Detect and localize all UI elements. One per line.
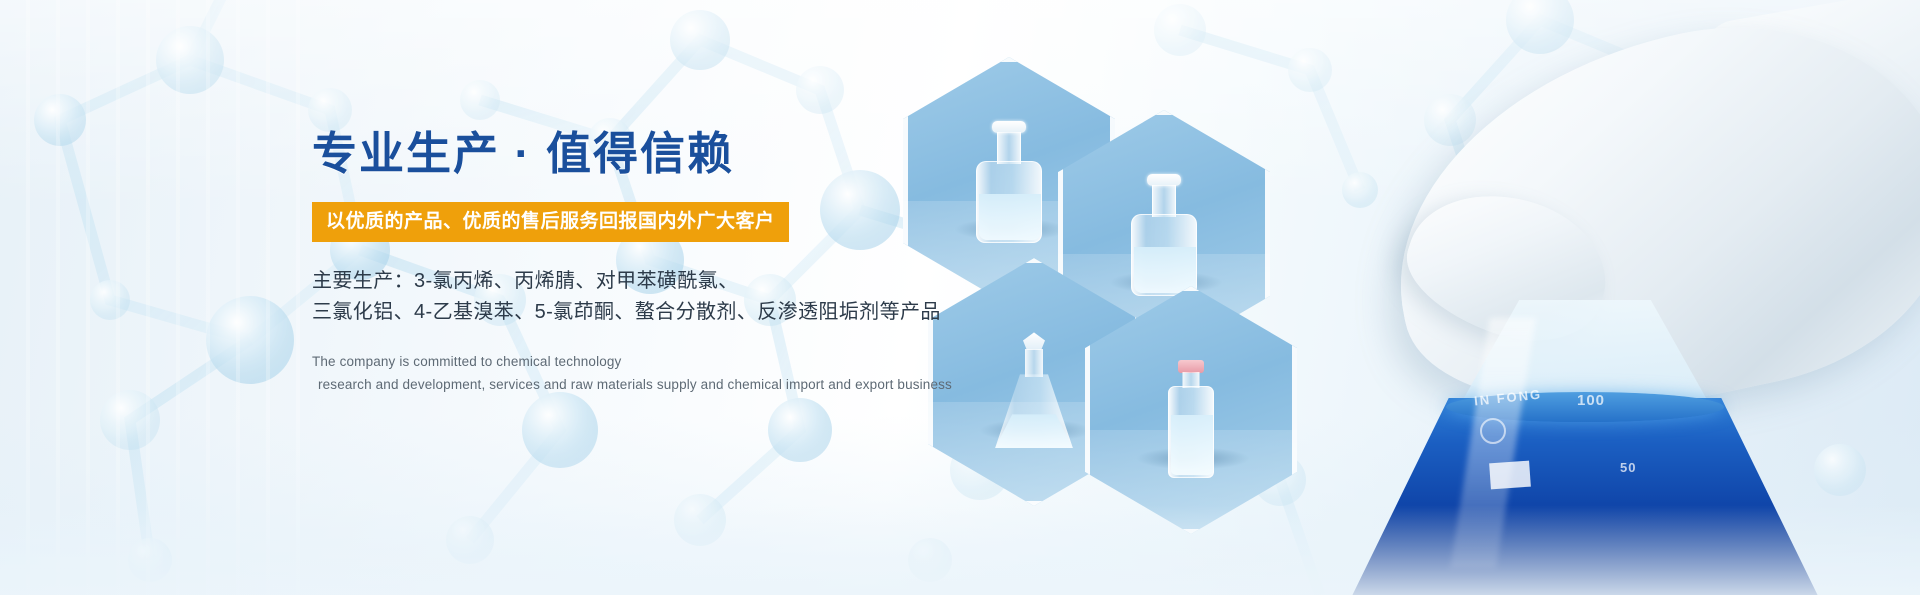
english-line-1: The company is committed to chemical tec…	[312, 350, 1012, 374]
banner-headline: 专业生产 · 值得信赖	[312, 128, 1012, 180]
hero-banner: IN FONG 100 50	[0, 0, 1920, 595]
product-line-1: 主要生产：3-氯丙烯、丙烯腈、对甲苯磺酰氯、	[312, 266, 1012, 297]
banner-copy-block: 专业生产 · 值得信赖 以优质的产品、优质的售后服务回报国内外广大客户 主要生产…	[312, 128, 1012, 397]
banner-ribbon-slogan: 以优质的产品、优质的售后服务回报国内外广大客户	[312, 202, 789, 242]
english-line-2: research and development, services and r…	[312, 373, 1012, 397]
product-list-chinese: 主要生产：3-氯丙烯、丙烯腈、对甲苯磺酰氯、 三氯化铝、4-乙基溴苯、5-氯茚酮…	[312, 266, 1012, 328]
product-line-2: 三氯化铝、4-乙基溴苯、5-氯茚酮、螯合分散剂、反渗透阻垢剂等产品	[312, 297, 1012, 328]
company-description-english: The company is committed to chemical tec…	[312, 350, 1012, 397]
